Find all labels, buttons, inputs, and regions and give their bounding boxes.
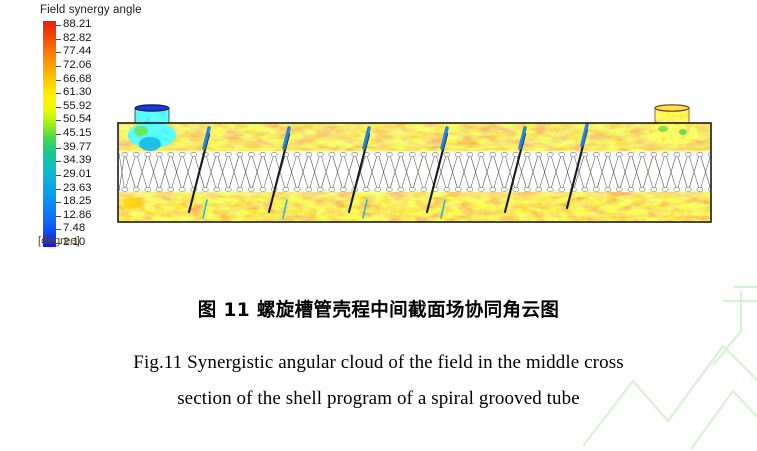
groove-crown bbox=[340, 187, 346, 191]
groove-crown bbox=[524, 152, 530, 156]
colorbar-tick-label: 34.39 bbox=[63, 155, 92, 166]
groove-crown bbox=[214, 152, 220, 156]
groove-crown bbox=[444, 152, 450, 156]
groove-crown bbox=[375, 152, 381, 156]
colorbar-tickmark bbox=[56, 202, 61, 203]
groove-crown bbox=[547, 152, 553, 156]
colorbar-tick-label: 23.63 bbox=[63, 183, 92, 194]
inlet-nozzle bbox=[135, 105, 169, 124]
groove-crown bbox=[501, 152, 507, 156]
colorbar-tick-label: 7.48 bbox=[63, 223, 85, 234]
colorbar-tick-label: 55.92 bbox=[63, 101, 92, 112]
groove-crown bbox=[605, 152, 611, 156]
groove-crown bbox=[662, 187, 668, 191]
groove-crown bbox=[455, 187, 461, 191]
figure-caption-english-line2: section of the shell program of a spiral… bbox=[0, 388, 757, 410]
groove-crown bbox=[605, 187, 611, 191]
colorbar-tick-label: 45.15 bbox=[63, 128, 92, 139]
groove-crown bbox=[294, 152, 300, 156]
groove-crown bbox=[582, 187, 588, 191]
figure-caption-chinese: 图 11 螺旋槽管壳程中间截面场协同角云图 bbox=[0, 296, 757, 322]
groove-crown bbox=[260, 187, 266, 191]
groove-crown bbox=[386, 152, 392, 156]
groove-crown bbox=[179, 187, 185, 191]
groove-crown bbox=[593, 152, 599, 156]
groove-crown bbox=[639, 152, 645, 156]
outlet-nozzle bbox=[655, 105, 689, 124]
groove-crown bbox=[248, 152, 254, 156]
colorbar-tickmark bbox=[56, 52, 61, 53]
colorbar-tickmark bbox=[56, 134, 61, 135]
colorbar-tick-label: 12.86 bbox=[63, 210, 92, 221]
groove-crown bbox=[122, 152, 128, 156]
groove-crown bbox=[375, 187, 381, 191]
groove-crown bbox=[651, 187, 657, 191]
colorbar-tickmark bbox=[56, 66, 61, 67]
groove-crown bbox=[524, 187, 530, 191]
colorbar-tickmark bbox=[56, 148, 61, 149]
groove-crown bbox=[421, 187, 427, 191]
groove-crown bbox=[352, 152, 358, 156]
colorbar-tick-label: 77.44 bbox=[63, 46, 92, 57]
groove-crown bbox=[122, 187, 128, 191]
colorbar-tick-labels: 88.2182.8277.4472.0666.6861.3055.9250.54… bbox=[63, 21, 109, 247]
groove-crown bbox=[398, 187, 404, 191]
groove-crown bbox=[559, 187, 565, 191]
colorbar-tickmark bbox=[56, 229, 61, 230]
groove-crown bbox=[478, 187, 484, 191]
groove-crown bbox=[363, 187, 369, 191]
groove-crown bbox=[536, 187, 542, 191]
groove-crown bbox=[168, 152, 174, 156]
colorbar-tickmark bbox=[56, 161, 61, 162]
groove-crown bbox=[674, 152, 680, 156]
colorbar-gradient bbox=[43, 21, 56, 247]
groove-crown bbox=[133, 187, 139, 191]
groove-crown bbox=[156, 187, 162, 191]
colorbar-tick-label: 18.25 bbox=[63, 196, 92, 207]
colorbar-tickmark bbox=[56, 39, 61, 40]
colorbar-tick-label: 72.06 bbox=[63, 60, 92, 71]
colorbar-tick-label: 50.54 bbox=[63, 114, 92, 125]
groove-crown bbox=[398, 152, 404, 156]
groove-crown bbox=[674, 187, 680, 191]
colorbar-tick-label: 88.21 bbox=[63, 19, 92, 30]
groove-crown bbox=[133, 152, 139, 156]
groove-crown bbox=[513, 187, 519, 191]
groove-crown bbox=[145, 152, 151, 156]
groove-crown bbox=[156, 152, 162, 156]
groove-crown bbox=[432, 152, 438, 156]
colorbar-tickmark bbox=[56, 175, 61, 176]
groove-crown bbox=[237, 152, 243, 156]
groove-crown bbox=[237, 187, 243, 191]
groove-crown bbox=[685, 187, 691, 191]
groove-crown bbox=[467, 152, 473, 156]
colorbar-tick-label: 82.82 bbox=[63, 33, 92, 44]
groove-crown bbox=[593, 187, 599, 191]
colorbar-tick-label: 61.30 bbox=[63, 87, 92, 98]
colorbar-tickmark bbox=[56, 93, 61, 94]
colorbar-tickmark bbox=[56, 189, 61, 190]
groove-crown bbox=[513, 152, 519, 156]
groove-crown bbox=[283, 187, 289, 191]
colorbar-tickmark bbox=[56, 216, 61, 217]
colorbar-tick-label: 39.77 bbox=[63, 142, 92, 153]
colorbar-tickmark bbox=[56, 25, 61, 26]
groove-crown bbox=[260, 152, 266, 156]
groove-crown bbox=[547, 187, 553, 191]
groove-crown bbox=[536, 152, 542, 156]
colorbar-title: Field synergy angle bbox=[38, 4, 142, 16]
groove-crown bbox=[444, 187, 450, 191]
groove-crown bbox=[501, 187, 507, 191]
groove-crown bbox=[191, 152, 197, 156]
groove-crown bbox=[225, 152, 231, 156]
groove-crown bbox=[340, 152, 346, 156]
shell-field bbox=[118, 122, 712, 222]
groove-crown bbox=[467, 187, 473, 191]
groove-crown bbox=[616, 152, 622, 156]
groove-crown bbox=[386, 187, 392, 191]
groove-crown bbox=[490, 152, 496, 156]
groove-crown bbox=[329, 187, 335, 191]
colorbar-tickmark bbox=[56, 80, 61, 81]
groove-crown bbox=[409, 187, 415, 191]
colorbar-tick-label: 29.01 bbox=[63, 169, 92, 180]
colorbar-tickmark bbox=[56, 120, 61, 121]
groove-crown bbox=[685, 152, 691, 156]
groove-crown bbox=[329, 152, 335, 156]
groove-crown bbox=[697, 152, 703, 156]
colorbar-tick-label: 66.68 bbox=[63, 74, 92, 85]
groove-crown bbox=[271, 152, 277, 156]
groove-crown bbox=[294, 187, 300, 191]
colorbar-unit-label: [degree] bbox=[38, 235, 80, 247]
groove-crown bbox=[248, 187, 254, 191]
groove-crown bbox=[478, 152, 484, 156]
groove-crown bbox=[628, 187, 634, 191]
groove-crown bbox=[559, 152, 565, 156]
groove-crown bbox=[306, 187, 312, 191]
groove-crown bbox=[570, 152, 576, 156]
groove-crown bbox=[317, 152, 323, 156]
groove-crown bbox=[306, 152, 312, 156]
groove-crown bbox=[225, 187, 231, 191]
groove-crown bbox=[662, 152, 668, 156]
groove-crown bbox=[651, 152, 657, 156]
groove-crown bbox=[145, 187, 151, 191]
groove-crown bbox=[179, 152, 185, 156]
groove-crown bbox=[616, 187, 622, 191]
colorbar-tickmark bbox=[56, 107, 61, 108]
outlet-plume bbox=[647, 122, 699, 146]
groove-crown bbox=[168, 187, 174, 191]
groove-crown bbox=[697, 187, 703, 191]
groove-crown bbox=[421, 152, 427, 156]
groove-crown bbox=[214, 187, 220, 191]
groove-crown bbox=[490, 187, 496, 191]
contour-plot bbox=[117, 104, 712, 223]
groove-crown bbox=[317, 187, 323, 191]
groove-crown bbox=[202, 187, 208, 191]
figure-page: Field synergy angle 88.2182.8277.4472.06… bbox=[0, 0, 757, 441]
figure-caption-english-line1: Fig.11 Synergistic angular cloud of the … bbox=[0, 352, 757, 374]
groove-crown bbox=[628, 152, 634, 156]
groove-crown bbox=[582, 152, 588, 156]
groove-crown bbox=[409, 152, 415, 156]
groove-crown bbox=[455, 152, 461, 156]
groove-crown bbox=[639, 187, 645, 191]
